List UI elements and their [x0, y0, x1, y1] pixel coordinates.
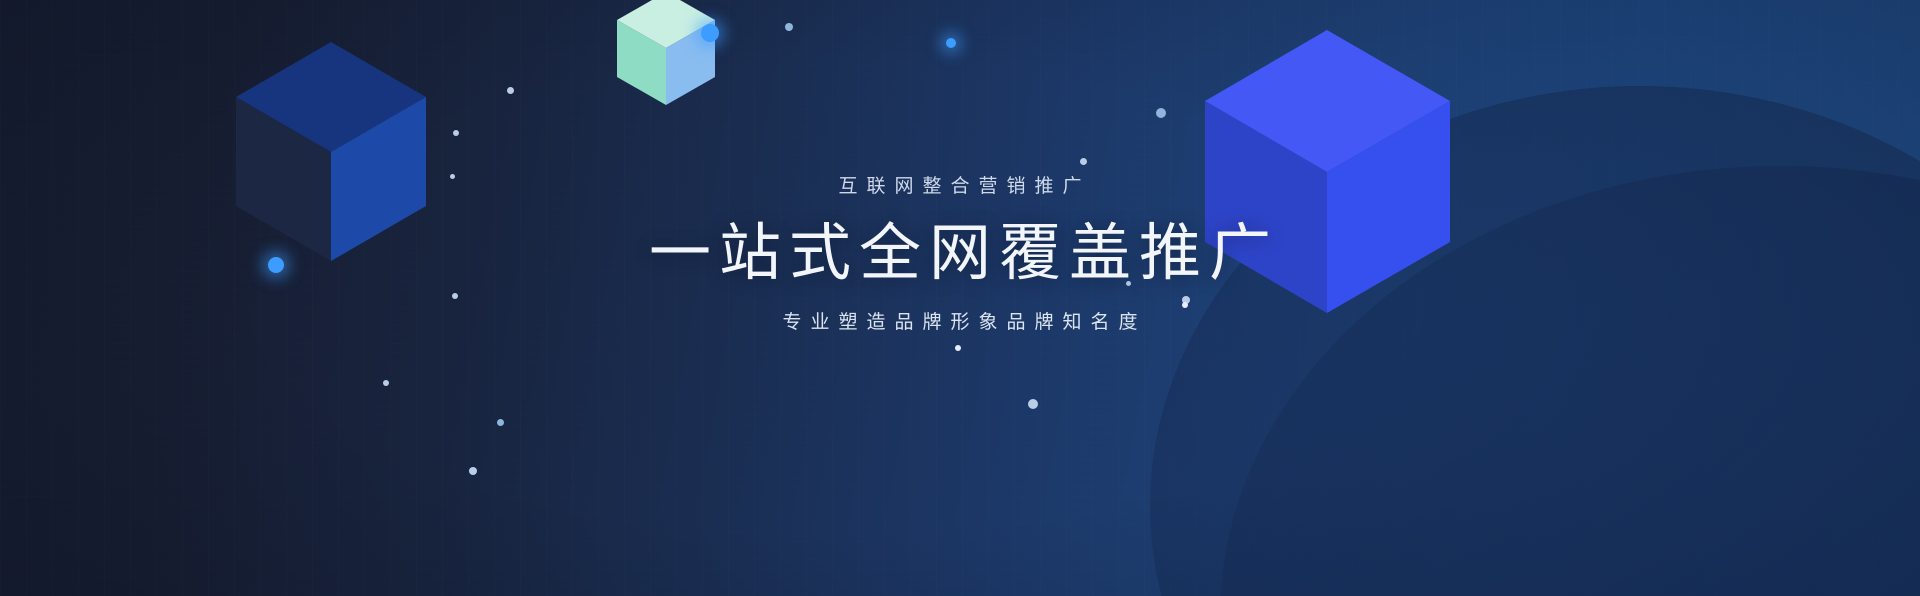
particle-dot: [469, 467, 477, 475]
particle-dot: [1156, 108, 1166, 118]
particle-dot: [450, 174, 455, 179]
particle-dot: [785, 23, 793, 31]
cube-mint-icon: [617, 0, 715, 105]
particle-dot: [497, 419, 504, 426]
particle-dot: [268, 257, 284, 273]
particle-dot: [383, 380, 389, 386]
particle-dot: [1080, 158, 1087, 165]
particle-dot: [507, 87, 514, 94]
particle-dot: [955, 345, 961, 351]
particle-dot: [1028, 399, 1038, 409]
promo-banner: 互联网整合营销推广 一站式全网覆盖推广 专业塑造品牌形象品牌知名度: [0, 0, 1920, 596]
particle-dot: [1182, 302, 1188, 308]
cube-bright-icon: [1205, 30, 1450, 313]
particle-dot: [1126, 281, 1131, 286]
particle-dot: [453, 130, 459, 136]
particle-dot: [452, 293, 458, 299]
particle-dot: [946, 38, 956, 48]
particle-dot: [701, 24, 719, 42]
cube-dark-icon: [236, 42, 426, 261]
